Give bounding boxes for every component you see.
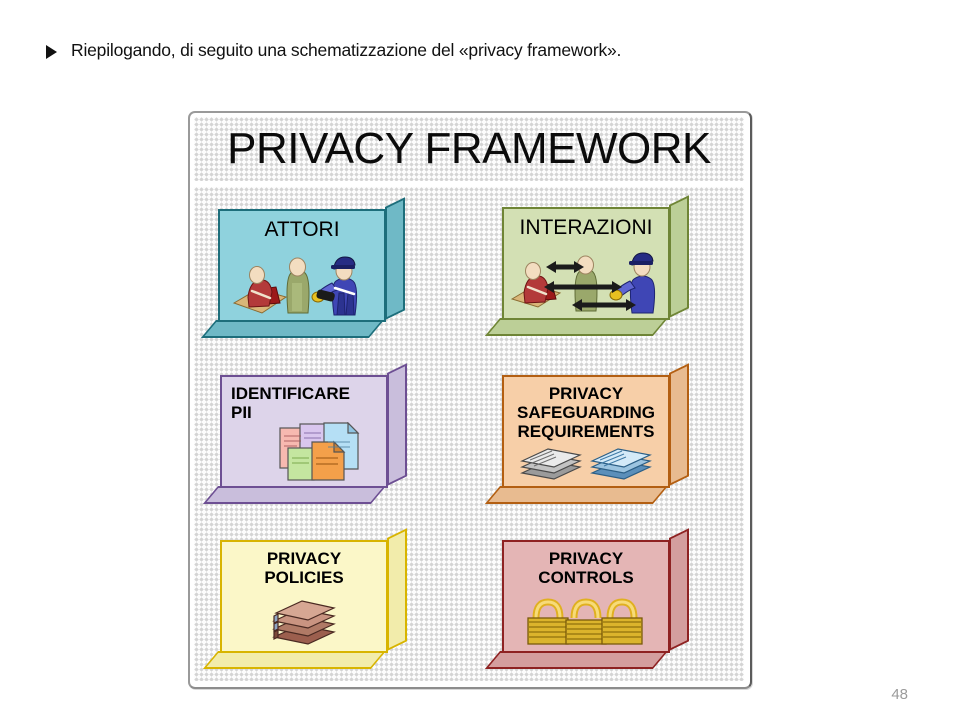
- box-privacy-safeguarding-requirements[interactable]: PRIVACYSAFEGUARDINGREQUIREMENTS: [502, 375, 670, 488]
- box-privacy-controls[interactable]: PRIVACYCONTROLS: [502, 540, 670, 653]
- diagram-title-band: PRIVACY FRAMEWORK: [194, 117, 744, 181]
- page-number: 48: [891, 686, 908, 703]
- padlocks-icon: [526, 596, 646, 648]
- people-trio-arrows-icon: [510, 241, 666, 315]
- book-stack-icon: [268, 591, 342, 647]
- box-identificare-pii[interactable]: IDENTIFICAREPII: [220, 375, 388, 488]
- box-label-privacy-policies: PRIVACYPOLICIES: [220, 549, 388, 587]
- bullet-paragraph: Riepilogando, di seguito una schematizza…: [46, 40, 866, 62]
- diagram-title: PRIVACY FRAMEWORK: [227, 124, 711, 174]
- diagram-body: ATTORI: [194, 187, 744, 681]
- box-interazioni[interactable]: INTERAZIONI: [502, 207, 670, 320]
- triangle-bullet-icon: [46, 45, 57, 59]
- privacy-framework-diagram: PRIVACY FRAMEWORK ATTORI: [188, 111, 752, 689]
- box-attori[interactable]: ATTORI: [218, 209, 386, 322]
- bullet-text: Riepilogando, di seguito una schematizza…: [71, 40, 621, 62]
- paper-stacks-icon: [518, 437, 658, 481]
- box-label-identificare-pii: IDENTIFICAREPII: [220, 384, 388, 422]
- box-label-privacy-controls: PRIVACYCONTROLS: [502, 549, 670, 587]
- box-privacy-policies[interactable]: PRIVACYPOLICIES: [220, 540, 388, 653]
- box-label-interazioni: INTERAZIONI: [502, 216, 670, 240]
- box-label-privacy-safeguarding-requirements: PRIVACYSAFEGUARDINGREQUIREMENTS: [502, 384, 670, 441]
- people-trio-icon: [230, 245, 378, 317]
- documents-fan-icon: [278, 422, 374, 484]
- box-label-attori: ATTORI: [218, 218, 386, 242]
